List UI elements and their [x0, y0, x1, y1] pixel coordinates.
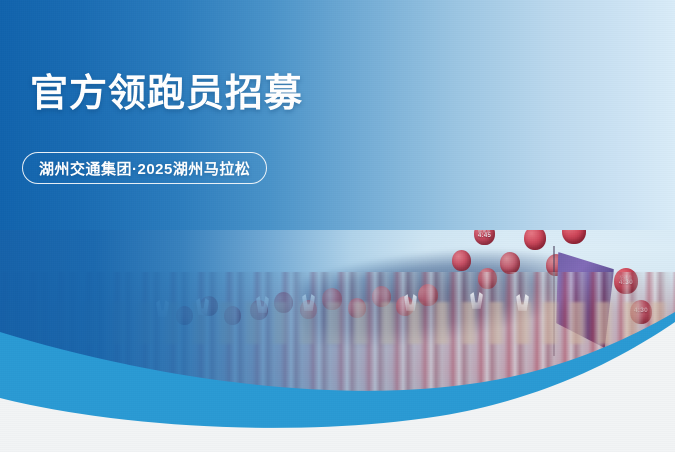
marathon-recruitment-banner: 配速员 4:45 配速员 4:30 4:30: [0, 0, 675, 452]
banner-content: 官方领跑员招募 湖州交通集团·2025湖州马拉松: [0, 0, 675, 452]
subtitle-badge-label: 湖州交通集团·2025湖州马拉松: [39, 158, 250, 179]
page-title: 官方领跑员招募: [30, 74, 303, 116]
subtitle-badge: 湖州交通集团·2025湖州马拉松: [22, 152, 267, 184]
